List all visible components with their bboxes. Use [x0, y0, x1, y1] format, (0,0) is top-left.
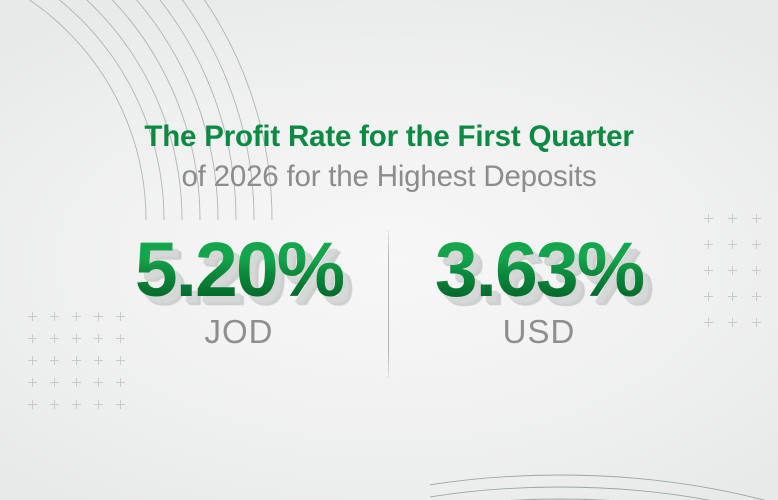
headline-block: The Profit Rate for the First Quarter of… [0, 118, 778, 198]
concentric-arc-lines-icon [430, 345, 778, 500]
page-title-line-1: The Profit Rate for the First Quarter [0, 118, 778, 156]
profit-rate-banner: The Profit Rate for the First Quarter of… [0, 0, 778, 500]
rate-value-usd-face: 3.63% [435, 222, 643, 318]
rate-value-jod-face: 5.20% [135, 222, 343, 318]
rate-value-jod: 5.20% 5.20% [135, 222, 343, 318]
rates-row: 5.20% 5.20% JOD 3.63% 3.63% USD [0, 222, 778, 352]
rate-card-jod: 5.20% 5.20% JOD [89, 222, 389, 352]
vertical-divider [388, 230, 389, 378]
rate-card-usd: 3.63% 3.63% USD [389, 222, 689, 352]
rate-value-usd: 3.63% 3.63% [435, 222, 643, 318]
page-title-line-2: of 2026 for the Highest Deposits [0, 156, 778, 198]
